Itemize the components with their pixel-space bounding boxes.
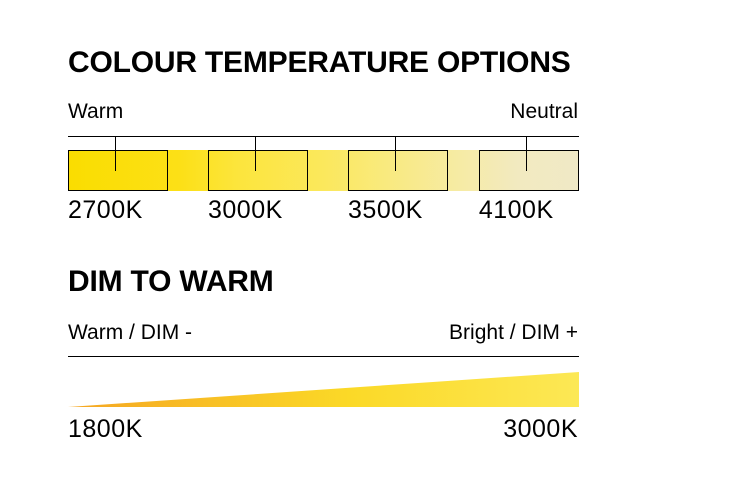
swatch-box-4100k [479,150,579,191]
tick-3000k [255,136,256,171]
poster-canvas: COLOUR TEMPERATURE OPTIONS Warm Neutral … [0,0,730,487]
swatch-box-2700k [68,150,168,191]
swatch-box-3500k [348,150,448,191]
dim-to-warm-title: DIM TO WARM [68,267,274,297]
label-4100k: 4100K [479,198,554,223]
dim-to-warm-axis-rule [68,356,579,357]
dim-to-warm-wedge [68,370,579,409]
tick-2700k [115,136,116,171]
caption-warm: Warm [68,101,123,122]
caption-dim-plus: Bright / DIM + [449,322,578,343]
label-2700k: 2700K [68,198,143,223]
caption-dim-minus: Warm / DIM - [68,322,192,343]
colour-temperature-axis-rule [68,136,579,137]
tick-3500k [395,136,396,171]
label-3000k: 3000K [208,198,283,223]
colour-temperature-gradient-strip [68,150,579,191]
caption-neutral: Neutral [510,101,578,122]
dim-to-warm-label-left: 1800K [68,417,143,442]
label-3500k: 3500K [348,198,423,223]
tick-4100k [526,136,527,171]
swatch-box-3000k [208,150,308,191]
colour-temperature-title: COLOUR TEMPERATURE OPTIONS [68,48,571,78]
dim-to-warm-label-right: 3000K [503,417,578,442]
